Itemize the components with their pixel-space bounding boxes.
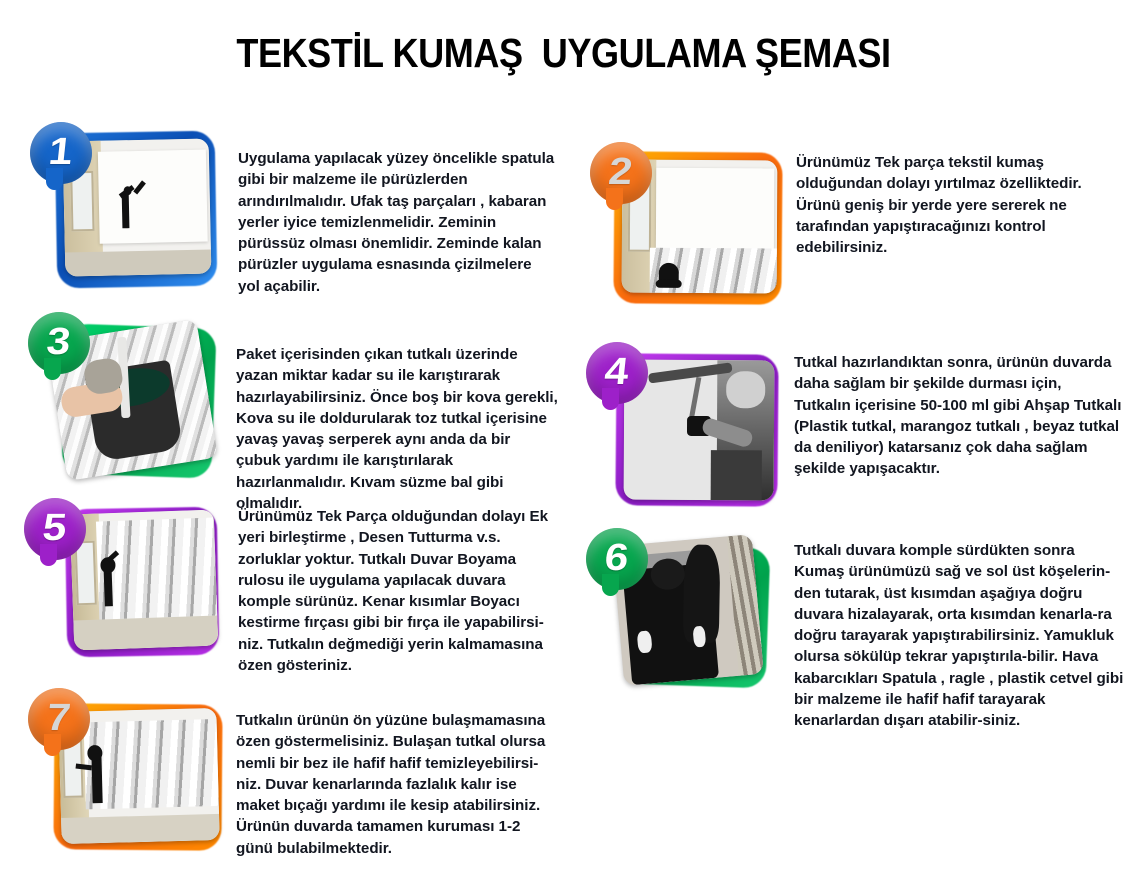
step-2-number: 2	[607, 153, 635, 191]
infographic-page: TEKSTİL KUMAŞ UYGULAMA ŞEMASI 1	[0, 0, 1127, 888]
page-title: TEKSTİL KUMAŞ UYGULAMA ŞEMASI	[68, 30, 1060, 77]
step-2-number-badge: 2	[590, 142, 652, 204]
step-7-media: 7	[28, 688, 213, 858]
step-7-number: 7	[45, 699, 73, 737]
step-5-text: Ürünümüz Tek Parça olduğundan dolayı Ek …	[238, 506, 560, 676]
step-5-number-badge: 5	[24, 498, 86, 560]
step-7-text: Tutkalın ürünün ön yüzüne bulaşmamasına …	[236, 710, 558, 859]
step-1-text: Uygulama yapılacak yüzey öncelikle spatu…	[238, 148, 556, 297]
step-1-media: 1	[30, 122, 215, 292]
step-3-text: Paket içerisinden çıkan tutkalı üzerinde…	[236, 344, 558, 514]
step-6-text: Tutkalı duvara komple sürdükten sonra Ku…	[794, 540, 1124, 732]
step-7-number-badge: 7	[28, 688, 90, 750]
step-5-number: 5	[41, 509, 69, 547]
step-3-number-badge: 3	[28, 312, 90, 374]
step-3-number: 3	[45, 323, 73, 361]
step-4-number: 4	[603, 353, 631, 391]
step-5-media: 5	[56, 498, 241, 668]
step-4-number-badge: 4	[586, 342, 648, 404]
step-1-number-badge: 1	[30, 122, 92, 184]
step-6-media: 6	[586, 528, 771, 698]
step-6-number: 6	[603, 539, 631, 577]
step-2-text: Ürünümüz Tek parça tekstil kumaş olduğun…	[796, 152, 1118, 258]
step-1-number: 1	[47, 133, 75, 171]
step-4-text: Tutkal hazırlandıktan sonra, ürünün duva…	[794, 352, 1122, 480]
step-2-media: 2	[588, 140, 773, 310]
step-6-number-badge: 6	[586, 528, 648, 590]
step-3-media: 3	[28, 312, 213, 482]
step-5-photo	[70, 510, 219, 651]
step-4-media: 4	[586, 342, 771, 512]
